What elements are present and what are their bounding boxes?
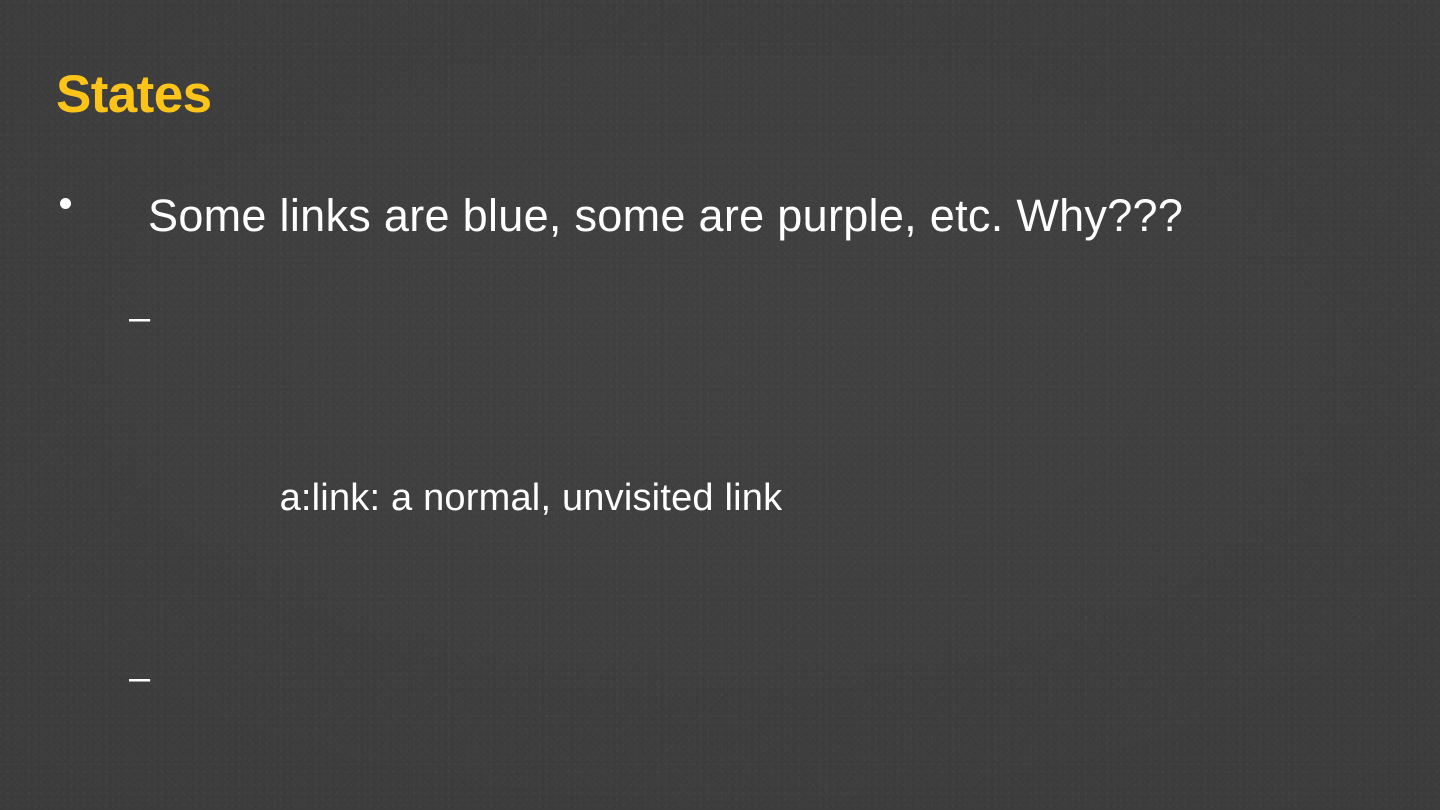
bullet-dot-icon [60, 198, 71, 209]
dash-icon: – [129, 273, 150, 363]
list-item: – a:link: a normal, unvisited link [0, 273, 1440, 633]
list-item-label: Some links are blue, some are purple, et… [148, 190, 1183, 241]
list-item: – a:visited: has been visited [0, 633, 1440, 810]
dash-icon: – [129, 633, 150, 723]
sub-bullet-list: – a:link: a normal, unvisited link – a:v… [0, 273, 1440, 810]
slide-content: States Some links are blue, some are pur… [0, 0, 1440, 810]
bullet-list: Some links are blue, some are purple, et… [0, 172, 1440, 810]
list-item: Some links are blue, some are purple, et… [0, 172, 1440, 259]
list-item-label: a:link: a normal, unvisited link [280, 477, 783, 519]
slide-canvas: States Some links are blue, some are pur… [0, 0, 1440, 810]
page-title: States [56, 66, 211, 124]
